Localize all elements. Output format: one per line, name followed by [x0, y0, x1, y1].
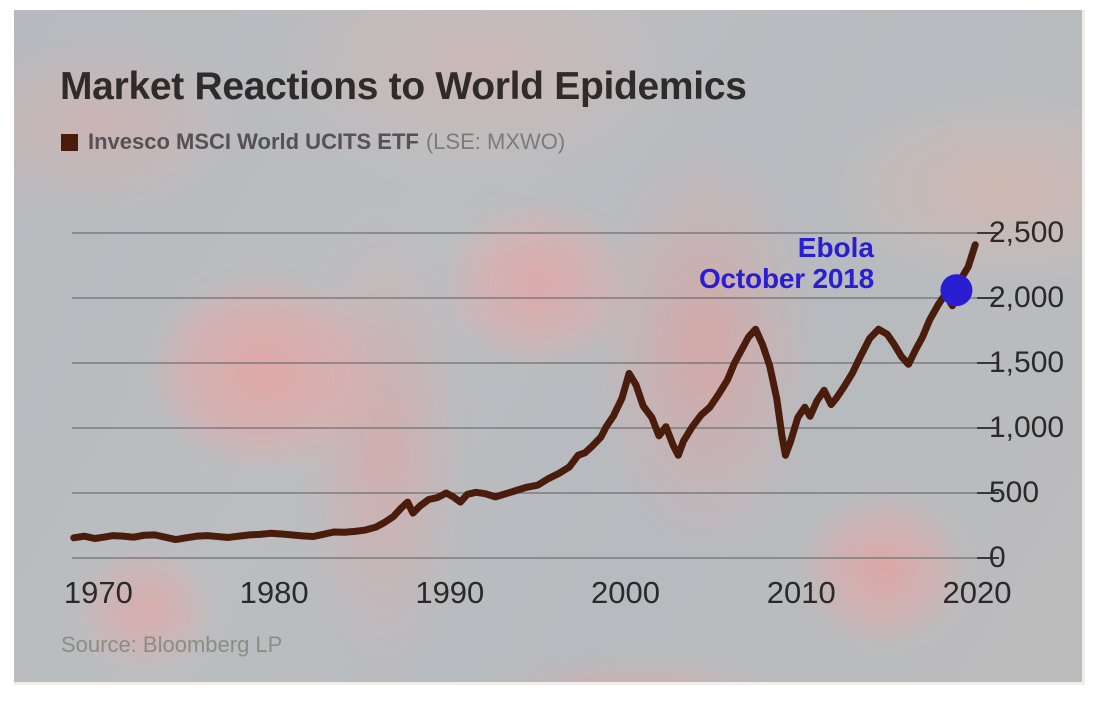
annotation-ebola: Ebola October 2018 — [574, 232, 874, 295]
y-axis-tick-label: 2,000 — [989, 281, 1064, 315]
x-axis-tick-label: 1970 — [64, 575, 133, 611]
y-axis-tick-label: 500 — [989, 476, 1039, 510]
y-axis-labels: 05001,0001,5002,0002,500 — [989, 200, 1085, 580]
x-axis-tick-label: 1990 — [415, 575, 484, 611]
plot-area — [58, 206, 1058, 572]
page-title: Market Reactions to World Epidemics — [60, 65, 747, 109]
y-axis-tick-label: 0 — [989, 541, 1006, 575]
y-axis-tick-label: 1,000 — [989, 411, 1064, 445]
x-axis-tick-label: 2000 — [591, 575, 660, 611]
chart-screenshot: Market Reactions to World Epidemics Inve… — [0, 0, 1100, 706]
chart-content: Market Reactions to World Epidemics Inve… — [14, 10, 1085, 685]
source-label: Source: Bloomberg LP — [61, 632, 282, 658]
chart-legend: Invesco MSCI World UCITS ETF (LSE: MXWO) — [61, 129, 565, 155]
legend-series-ticker: (LSE: MXWO) — [426, 129, 565, 155]
x-axis-tick-label: 1980 — [240, 575, 309, 611]
x-axis-tick-label: 2010 — [767, 575, 836, 611]
chart-panel: Market Reactions to World Epidemics Inve… — [14, 10, 1085, 685]
annotation-marker-ebola — [940, 274, 972, 306]
chart-svg — [58, 206, 1058, 572]
legend-series-name: Invesco MSCI World UCITS ETF — [88, 129, 419, 155]
annotation-line-2: October 2018 — [574, 263, 874, 294]
annotation-line-1: Ebola — [574, 232, 874, 263]
y-axis-tick-label: 2,500 — [989, 216, 1064, 250]
x-axis-tick-label: 2020 — [943, 575, 1012, 611]
x-axis-labels: 197019801990200020102020 — [14, 575, 1085, 619]
y-axis-tick-label: 1,500 — [989, 346, 1064, 380]
legend-swatch-icon — [61, 134, 78, 151]
